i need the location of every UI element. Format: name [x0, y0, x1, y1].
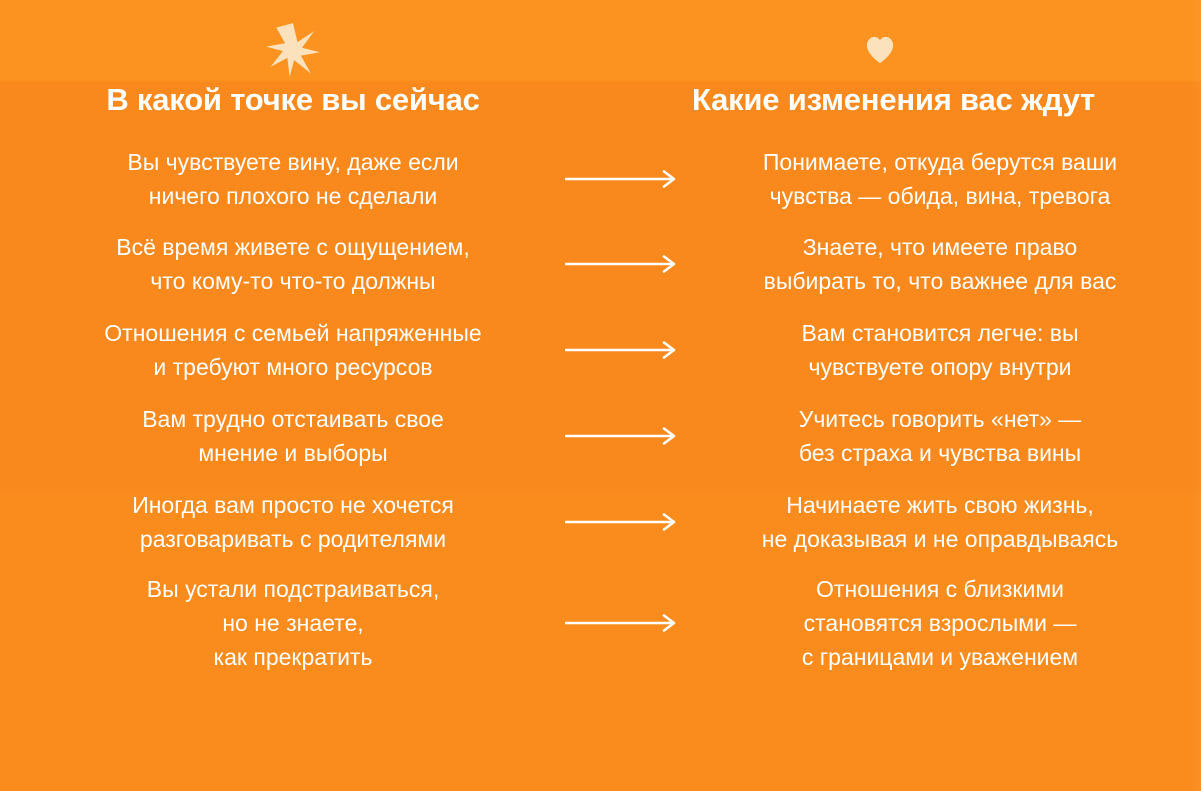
- text-line: Вам трудно отстаивать свое: [43, 402, 543, 436]
- arrow-right-icon: [565, 170, 679, 188]
- comparison-row: Вам трудно отстаивать свое мнение и выбо…: [0, 393, 1201, 479]
- row-right-text: Понимаете, откуда берутся ваши чувства —…: [725, 145, 1155, 213]
- arrow-right-icon: [565, 341, 679, 359]
- arrow-cell: [543, 427, 701, 445]
- text-line: что кому-то что-то должны: [43, 264, 543, 298]
- text-line: становятся взрослыми —: [725, 606, 1155, 640]
- text-line: Учитесь говорить «нет» —: [725, 402, 1155, 436]
- arrow-cell: [543, 341, 701, 359]
- arrow-right-icon: [565, 513, 679, 531]
- text-line: Всё время живете с ощущением,: [43, 230, 543, 264]
- text-line: ничего плохого не сделали: [43, 179, 543, 213]
- row-left-text: Иногда вам просто не хочется разговарива…: [43, 488, 543, 556]
- text-line: Вы устали подстраиваться,: [43, 572, 543, 606]
- comparison-row: Отношения с семьей напряженные и требуют…: [0, 307, 1201, 393]
- text-line: и требуют много ресурсов: [43, 350, 543, 384]
- text-line: не доказывая и не оправдываясь: [725, 522, 1155, 556]
- row-right-text: Знаете, что имеете право выбирать то, чт…: [725, 230, 1155, 298]
- text-line: как прекратить: [43, 640, 543, 674]
- column-headers: В какой точке вы сейчас Какие изменения …: [0, 80, 1201, 122]
- arrow-cell: [543, 255, 701, 273]
- row-left-text: Отношения с семьей напряженные и требуют…: [43, 316, 543, 384]
- arrow-cell: [543, 513, 701, 531]
- text-line: разговаривать с родителями: [43, 522, 543, 556]
- text-line: чувствуете опору внутри: [725, 350, 1155, 384]
- text-line: Иногда вам просто не хочется: [43, 488, 543, 522]
- sparkle-star-icon: [253, 20, 333, 80]
- arrow-right-icon: [565, 255, 679, 273]
- row-right-text: Вам становится легче: вы чувствуете опор…: [725, 316, 1155, 384]
- text-line: Вы чувствуете вину, даже если: [43, 145, 543, 179]
- column-header-right: Какие изменения вас ждут: [586, 80, 1201, 120]
- icon-row: [0, 0, 1201, 82]
- text-line: Понимаете, откуда берутся ваши: [725, 145, 1155, 179]
- slide-root: В какой точке вы сейчас Какие изменения …: [0, 0, 1201, 791]
- row-right-text: Отношения с близкими становятся взрослым…: [725, 572, 1155, 674]
- text-line: с границами и уважением: [725, 640, 1155, 674]
- row-right-text: Учитесь говорить «нет» — без страха и чу…: [725, 402, 1155, 470]
- text-line: Отношения с семьей напряженные: [43, 316, 543, 350]
- text-line: без страха и чувства вины: [725, 436, 1155, 470]
- column-header-left: В какой точке вы сейчас: [0, 80, 586, 120]
- comparison-row: Иногда вам просто не хочется разговарива…: [0, 479, 1201, 565]
- arrow-right-icon: [565, 614, 679, 632]
- arrow-cell: [543, 170, 701, 188]
- text-line: Отношения с близкими: [725, 572, 1155, 606]
- text-line: мнение и выборы: [43, 436, 543, 470]
- text-line: выбирать то, что важнее для вас: [725, 264, 1155, 298]
- text-line: Знаете, что имеете право: [725, 230, 1155, 264]
- comparison-rows: Вы чувствуете вину, даже если ничего пло…: [0, 136, 1201, 681]
- comparison-row: Вы чувствуете вину, даже если ничего пло…: [0, 136, 1201, 221]
- row-left-text: Вам трудно отстаивать свое мнение и выбо…: [43, 402, 543, 470]
- row-right-text: Начинаете жить свою жизнь, не доказывая …: [725, 488, 1155, 556]
- comparison-row: Вы устали подстраиваться, но не знаете, …: [0, 565, 1201, 681]
- text-line: Вам становится легче: вы: [725, 316, 1155, 350]
- text-line: Начинаете жить свою жизнь,: [725, 488, 1155, 522]
- row-left-text: Всё время живете с ощущением, что кому-т…: [43, 230, 543, 298]
- arrow-right-icon: [565, 427, 679, 445]
- comparison-row: Всё время живете с ощущением, что кому-т…: [0, 221, 1201, 307]
- heart-icon: [840, 20, 920, 80]
- row-left-text: Вы чувствуете вину, даже если ничего пло…: [43, 145, 543, 213]
- text-line: но не знаете,: [43, 606, 543, 640]
- arrow-cell: [543, 614, 701, 632]
- row-left-text: Вы устали подстраиваться, но не знаете, …: [43, 572, 543, 674]
- text-line: чувства — обида, вина, тревога: [725, 179, 1155, 213]
